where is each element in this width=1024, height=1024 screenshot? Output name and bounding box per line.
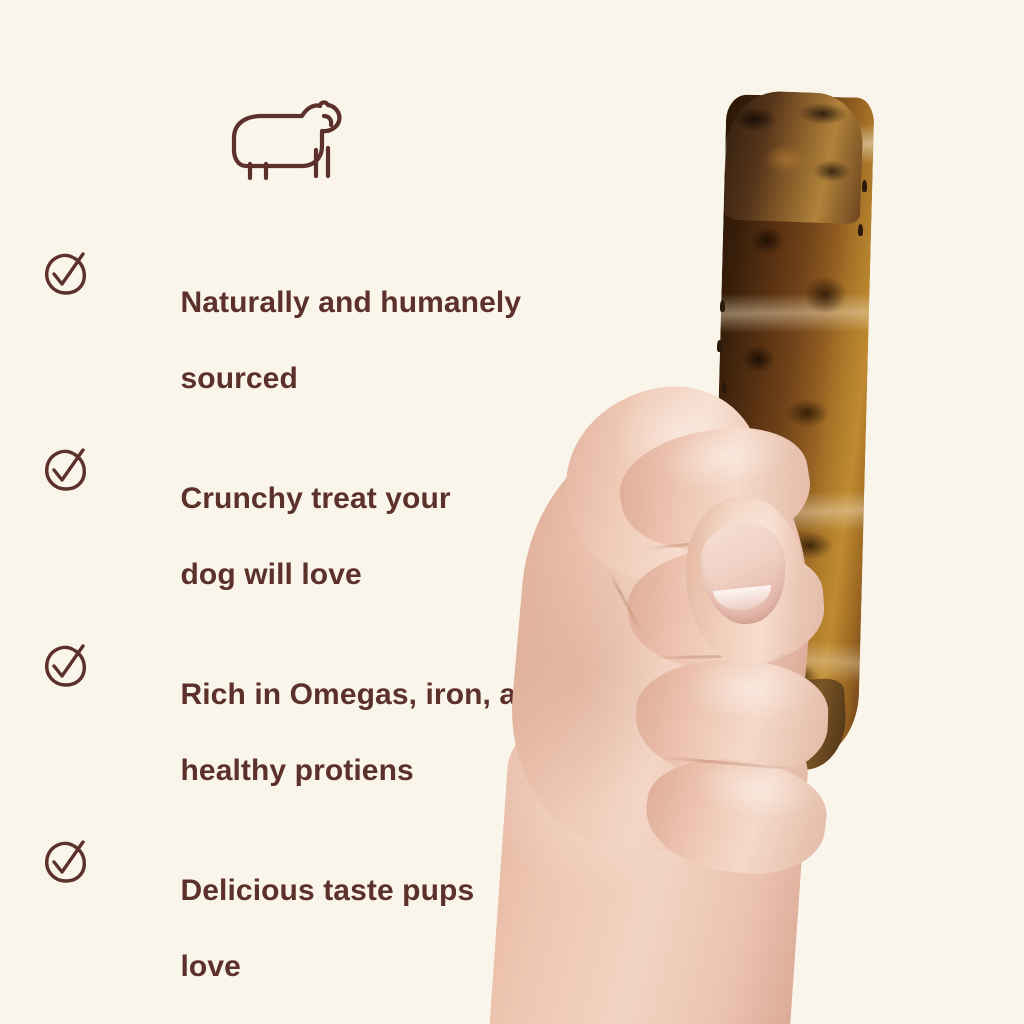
benefit-line: Crunchy treat your <box>180 482 450 515</box>
check-circle-icon <box>40 640 92 692</box>
benefit-line: Delicious taste pups <box>180 874 474 907</box>
check-circle-icon <box>40 836 92 888</box>
chew-fringe <box>722 382 727 394</box>
benefit-line: healthy protiens <box>180 754 413 787</box>
product-benefits-graphic: Naturally and humanely sourced Crunchy t… <box>0 0 1024 1024</box>
lamb-chew-top <box>724 90 864 225</box>
benefit-line: dog will love <box>180 558 361 591</box>
chew-fringe <box>717 340 722 352</box>
hand-holding-lamb-chew-photo <box>470 0 1024 1024</box>
chew-fringe <box>862 180 867 192</box>
benefit-line: love <box>180 950 240 983</box>
chew-fringe <box>858 224 863 236</box>
chew-fringe <box>720 300 725 312</box>
benefit-line: sourced <box>180 362 297 395</box>
lamb-icon <box>216 92 346 192</box>
check-circle-icon <box>40 444 92 496</box>
check-circle-icon <box>40 248 92 300</box>
